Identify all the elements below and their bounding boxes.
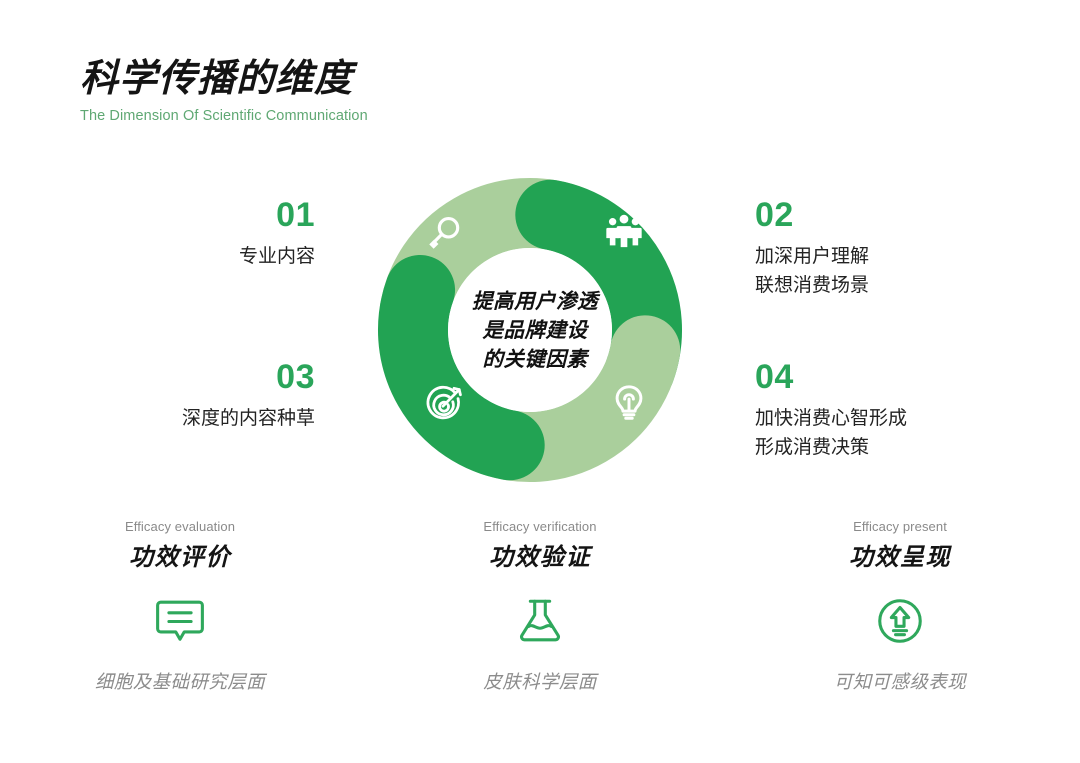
circled-up-arrow-icon — [873, 594, 927, 648]
callout-02-number: 02 — [755, 198, 1035, 232]
magnifier-icon — [424, 212, 466, 254]
callout-03-number: 03 — [40, 360, 315, 394]
pillar-3-title: 功效呈现 — [849, 544, 951, 572]
callout-04[interactable]: 04 加快消费心智形成 形成消费决策 — [755, 360, 1045, 462]
lightbulb-icon — [608, 382, 650, 424]
callout-01[interactable]: 01 专业内容 — [60, 198, 315, 272]
pillar-1-subtitle: 细胞及基础研究层面 — [95, 668, 265, 694]
cycle-donut-diagram: 提高用户渗透 是品牌建设 的关键因素 — [370, 158, 700, 503]
page-header: 科学传播的维度 The Dimension Of Scientific Comm… — [80, 58, 600, 124]
speech-bubble-icon — [153, 594, 207, 648]
page-subtitle: The Dimension Of Scientific Communicatio… — [80, 108, 600, 124]
flask-icon — [513, 594, 567, 648]
pillar-3-subtitle: 可知可感级表现 — [834, 668, 966, 694]
callout-02-line-2: 联想消费场景 — [755, 272, 1035, 301]
donut-svg — [370, 158, 700, 503]
callout-01-number: 01 — [60, 198, 315, 232]
callout-02[interactable]: 02 加深用户理解 联想消费场景 — [755, 198, 1035, 300]
callout-03[interactable]: 03 深度的内容种草 — [40, 360, 315, 434]
pillar-2-title: 功效验证 — [489, 544, 591, 572]
pillar-1-english-label: Efficacy evaluation — [125, 520, 235, 533]
pillar-3-english-label: Efficacy present — [853, 520, 947, 533]
callout-01-line-1: 专业内容 — [60, 243, 315, 272]
callout-04-line-2: 形成消费决策 — [755, 434, 1045, 463]
callout-02-line-1: 加深用户理解 — [755, 243, 1035, 272]
callout-04-lines: 加快消费心智形成 形成消费决策 — [755, 405, 1045, 462]
callout-04-number: 04 — [755, 360, 1045, 394]
target-icon — [422, 383, 464, 425]
people-icon — [603, 209, 645, 251]
callout-03-line-1: 深度的内容种草 — [40, 405, 315, 434]
callout-04-line-1: 加快消费心智形成 — [755, 405, 1045, 434]
pillar-2-subtitle: 皮肤科学层面 — [483, 668, 596, 694]
pillar-1-title: 功效评价 — [129, 544, 231, 572]
page-title: 科学传播的维度 — [80, 58, 600, 101]
pillar-efficacy-verification[interactable]: Efficacy verification 功效验证 皮肤科学层面 — [360, 520, 720, 694]
pillar-row: Efficacy evaluation 功效评价 细胞及基础研究层面 Effic… — [0, 520, 1080, 694]
pillar-2-english-label: Efficacy verification — [483, 520, 596, 533]
donut-inner-disc — [448, 248, 612, 412]
callout-02-lines: 加深用户理解 联想消费场景 — [755, 243, 1035, 300]
pillar-efficacy-evaluation[interactable]: Efficacy evaluation 功效评价 细胞及基础研究层面 — [0, 520, 360, 694]
pillar-efficacy-present[interactable]: Efficacy present 功效呈现 可知可感级表现 — [720, 520, 1080, 694]
